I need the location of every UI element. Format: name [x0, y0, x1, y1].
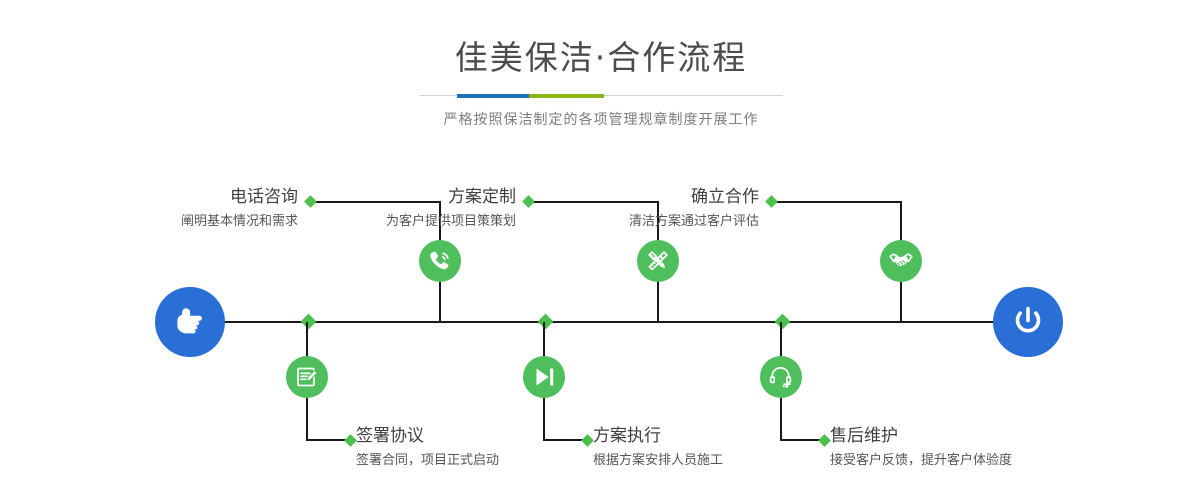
timeline-marker	[301, 314, 317, 330]
step-icon-sign-agreement	[286, 356, 328, 398]
pencil-ruler-icon	[645, 248, 671, 274]
timeline-marker	[775, 314, 791, 330]
step-desc: 接受客户反馈，提升客户体验度	[830, 451, 1190, 471]
timeline-marker	[538, 314, 554, 330]
step-icon-phone-consult	[419, 240, 461, 282]
timeline-start-endpoint	[155, 287, 225, 357]
headset-plus-icon	[768, 364, 794, 390]
divider-segment-blue	[457, 94, 529, 98]
step-desc: 清洁方案通过客户评估	[460, 212, 759, 232]
label-marker	[765, 195, 778, 208]
page-subtitle: 严格按照保洁制定的各项管理规章制度开展工作	[0, 109, 1202, 129]
step-icon-after-sales	[760, 356, 802, 398]
step-name: 确立合作	[460, 186, 759, 208]
step-icon-plan-customize	[637, 240, 679, 282]
power-button-icon	[1008, 302, 1048, 342]
cooperation-process-infographic: 佳美保洁·合作流程 严格按照保洁制定的各项管理规章制度开展工作	[0, 0, 1202, 502]
header: 佳美保洁·合作流程 严格按照保洁制定的各项管理规章制度开展工作	[0, 0, 1202, 129]
title-divider	[419, 94, 783, 98]
handshake-icon	[888, 248, 914, 274]
pointing-hand-icon	[171, 303, 209, 341]
phone-call-icon	[427, 248, 453, 274]
timeline-end-endpoint	[993, 287, 1063, 357]
branch-hline	[771, 201, 902, 203]
step-label-after-sales: 售后维护 接受客户反馈，提升客户体验度	[830, 425, 1190, 471]
step-name: 售后维护	[830, 425, 1190, 447]
label-marker	[344, 434, 357, 447]
page-title: 佳美保洁·合作流程	[0, 38, 1202, 78]
document-sign-icon	[294, 364, 320, 390]
step-icon-establish-cooperation	[880, 240, 922, 282]
step-icon-plan-execute	[523, 356, 565, 398]
play-skip-icon	[531, 364, 557, 390]
divider-segment-green	[529, 94, 604, 98]
step-label-establish-cooperation: 确立合作 清洁方案通过客户评估	[460, 186, 759, 232]
